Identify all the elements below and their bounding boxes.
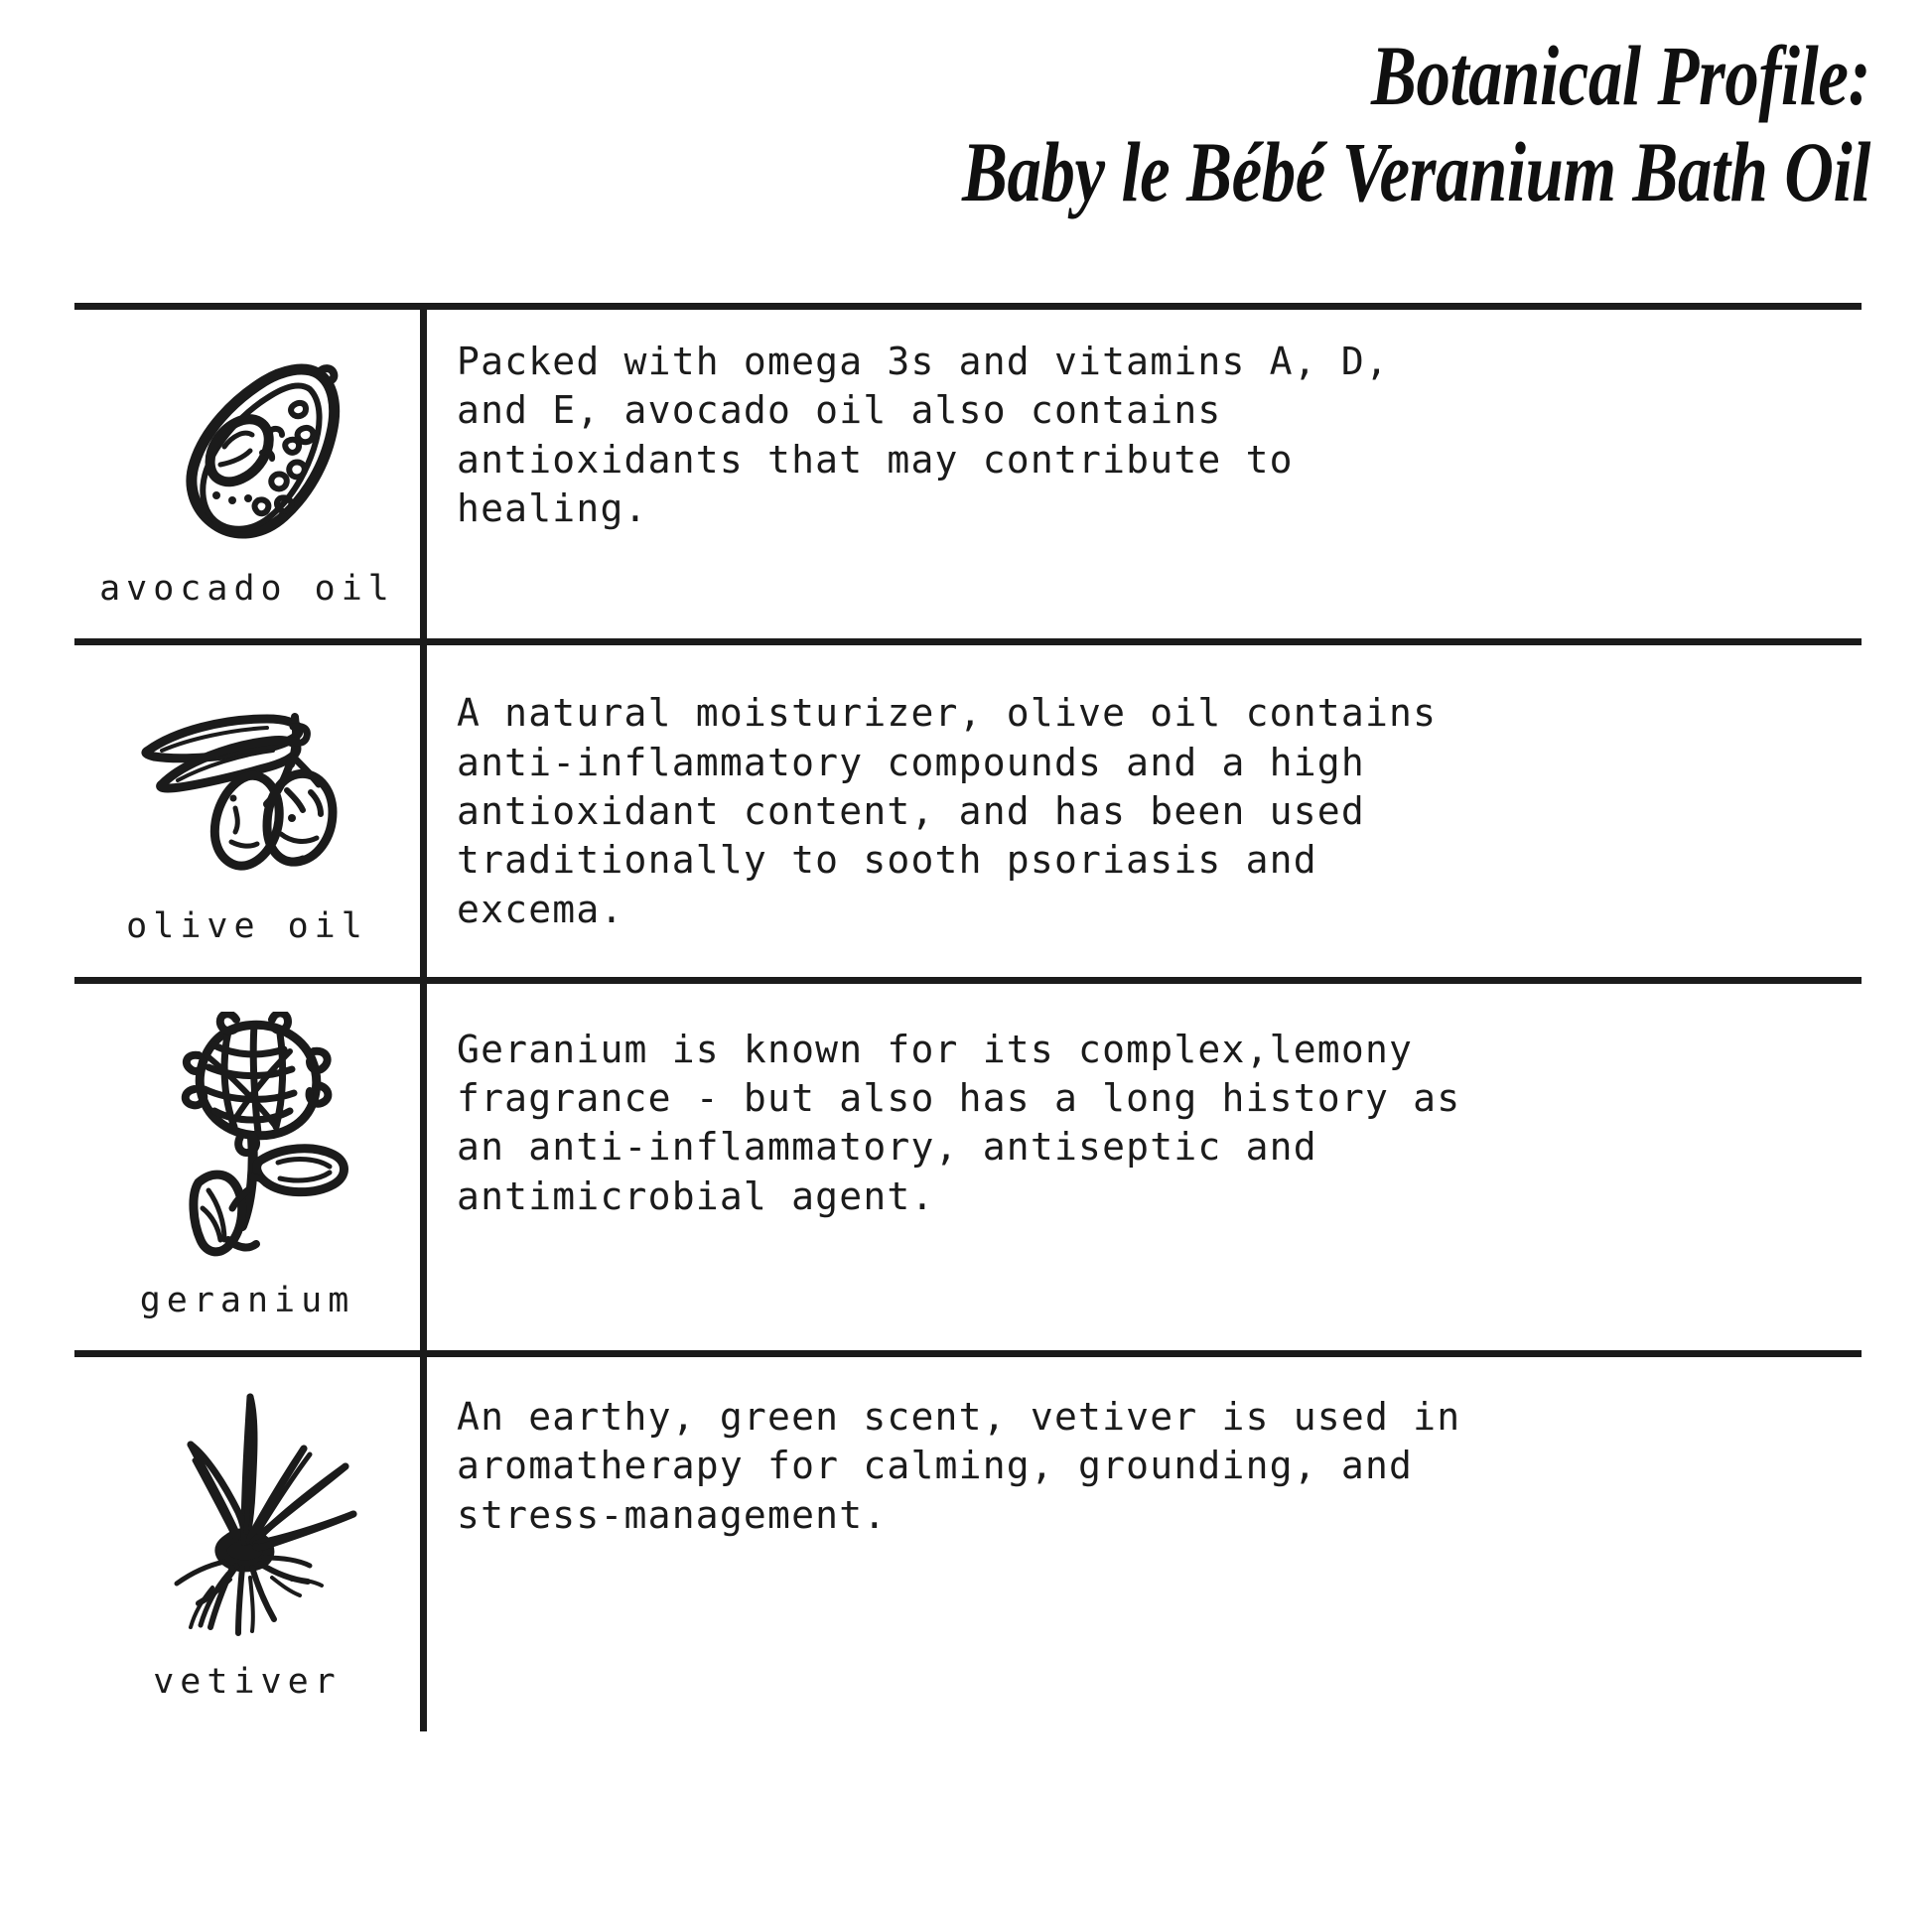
ingredient-icon-cell: geranium [74, 984, 427, 1350]
ingredient-label: geranium [140, 1278, 355, 1324]
ingredients-table: avocado oil Packed with omega 3s and vit… [74, 303, 1862, 1731]
ingredient-description: An earthy, green scent, vetiver is used … [457, 1393, 1460, 1540]
ingredient-icon-cell: vetiver [74, 1357, 427, 1731]
olive-branch-icon [128, 697, 366, 890]
ingredient-description: A natural moisturizer, olive oil contain… [457, 689, 1437, 934]
page-title: Botanical Profile: Baby le Bébé Veranium… [422, 28, 1870, 220]
ingredient-description-cell: Geranium is known for its complex,lemony… [427, 984, 1862, 1350]
table-row: avocado oil Packed with omega 3s and vit… [74, 310, 1862, 645]
geranium-flower-icon [143, 1012, 351, 1264]
ingredient-label: avocado oil [99, 566, 395, 613]
avocado-icon [143, 349, 351, 552]
table-row: olive oil A natural moisturizer, olive o… [74, 645, 1862, 983]
ingredient-description-cell: Packed with omega 3s and vitamins A, D, … [427, 310, 1862, 638]
ingredient-label: vetiver [153, 1659, 342, 1706]
page-title-line-1: Botanical Profile: [422, 28, 1870, 124]
ingredient-icon-cell: avocado oil [74, 310, 427, 638]
page-title-line-2: Baby le Bébé Veranium Bath Oil [422, 124, 1870, 220]
table-row: vetiver An earthy, green scent, vetiver … [74, 1357, 1862, 1731]
ingredient-icon-cell: olive oil [74, 645, 427, 976]
botanical-profile-page: Botanical Profile: Baby le Bébé Veranium… [0, 0, 1932, 1932]
vetiver-grass-icon [133, 1383, 361, 1645]
ingredient-description-cell: A natural moisturizer, olive oil contain… [427, 645, 1862, 976]
ingredient-description: Geranium is known for its complex,lemony… [457, 1026, 1460, 1222]
ingredient-description: Packed with omega 3s and vitamins A, D, … [457, 338, 1389, 534]
table-row: geranium Geranium is known for its compl… [74, 984, 1862, 1357]
ingredient-description-cell: An earthy, green scent, vetiver is used … [427, 1357, 1862, 1731]
ingredient-label: olive oil [126, 903, 368, 950]
